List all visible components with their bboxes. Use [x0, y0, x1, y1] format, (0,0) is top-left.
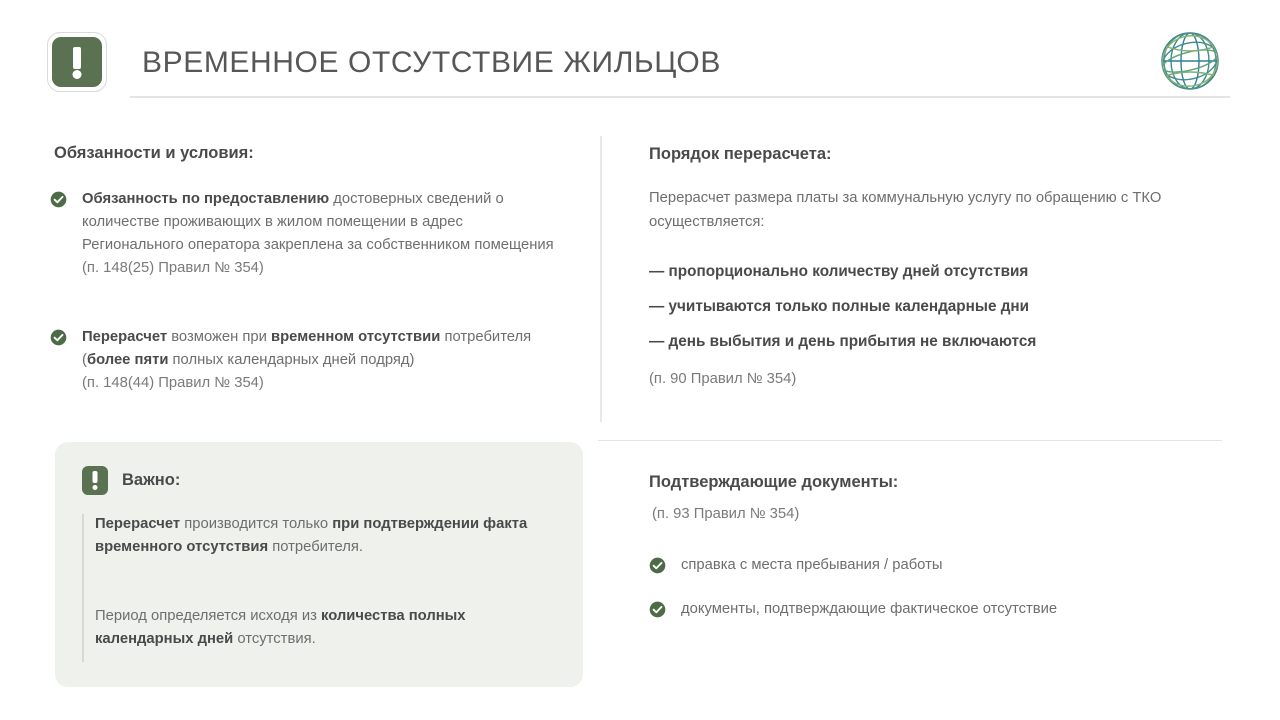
- header-divider: [130, 96, 1230, 98]
- left-section-heading: Обязанности и условия:: [54, 144, 254, 163]
- page-header: ВРЕМЕННОЕ ОТСУТСТВИЕ ЖИЛЬЦОВ: [0, 0, 1280, 118]
- check-circle-icon: [50, 329, 67, 346]
- check-circle-icon: [50, 191, 67, 208]
- list-item-text: документы, подтверждающие фактическое от…: [681, 599, 1209, 619]
- recalculation-reference: (п. 90 Правил № 354): [649, 371, 796, 387]
- bullet-mid: возможен при: [167, 329, 271, 345]
- bullet-lead: Перерасчет: [82, 329, 167, 345]
- important-callout: Важно: Перерасчет производится только пр…: [55, 442, 583, 687]
- list-item-text: Перерасчет возможен при временном отсутс…: [82, 326, 566, 395]
- bullet-reference: (п. 148(44) Правил № 354): [82, 375, 264, 391]
- dash-list-item: — учитываются только полные календарные …: [649, 298, 1029, 316]
- page-title: ВРЕМЕННОЕ ОТСУТСТВИЕ ЖИЛЬЦОВ: [142, 46, 721, 80]
- callout-paragraph: Перерасчет производится только при подтв…: [95, 513, 555, 559]
- list-item: Обязанность по предоставлению достоверны…: [50, 188, 566, 280]
- globe-wireframe-icon: [1159, 30, 1221, 92]
- bullet-lead2: временном отсутствии: [271, 329, 440, 345]
- callout-accent-bar: [82, 514, 84, 662]
- bullet-body2: полных календарных дней подряд): [168, 352, 414, 368]
- dash-list-item: — день выбытия и день прибытия не включа…: [649, 333, 1036, 351]
- left-column: Обязанности и условия: Обязанность по пр…: [0, 118, 600, 720]
- bullet-lead3: более пяти: [87, 352, 169, 368]
- callout-p1-b1: Перерасчет: [95, 516, 180, 532]
- exclamation-dot: [93, 485, 98, 490]
- right-section-heading: Порядок перерасчета:: [649, 145, 832, 164]
- check-circle-icon: [649, 557, 666, 574]
- recalculation-intro: Перерасчет размера платы за коммунальную…: [649, 186, 1169, 234]
- dash-list-item: — пропорционально количеству дней отсутс…: [649, 263, 1028, 281]
- exclamation-dot: [73, 70, 82, 79]
- list-item-text: Обязанность по предоставлению достоверны…: [82, 188, 566, 280]
- list-item: документы, подтверждающие фактическое от…: [649, 599, 1209, 619]
- exclamation-icon: [82, 466, 108, 495]
- callout-p2-t2: отсутствия.: [233, 631, 315, 647]
- exclamation-stem: [73, 47, 81, 69]
- callout-paragraph: Период определяется исходя из количества…: [95, 605, 555, 651]
- exclamation-icon-badge: [52, 37, 102, 87]
- documents-section-heading: Подтверждающие документы:: [649, 473, 898, 492]
- callout-p2-t1: Период определяется исходя из: [95, 608, 321, 624]
- list-item: справка с места пребывания / работы: [649, 555, 1209, 575]
- callout-p1-t2: потребителя.: [268, 539, 363, 555]
- callout-title: Важно:: [122, 471, 180, 490]
- list-item-text: справка с места пребывания / работы: [681, 555, 1209, 575]
- list-item: Перерасчет возможен при временном отсутс…: [50, 326, 566, 395]
- bullet-reference: (п. 148(25) Правил № 354): [82, 260, 264, 276]
- check-circle-icon: [649, 601, 666, 618]
- exclamation-stem: [93, 471, 98, 483]
- documents-reference: (п. 93 Правил № 354): [652, 506, 799, 522]
- exclamation-icon: [47, 32, 107, 92]
- bullet-lead: Обязанность по предоставлению: [82, 191, 329, 207]
- right-column: Порядок перерасчета: Перерасчет размера …: [600, 118, 1280, 720]
- callout-p1-t1: производится только: [180, 516, 332, 532]
